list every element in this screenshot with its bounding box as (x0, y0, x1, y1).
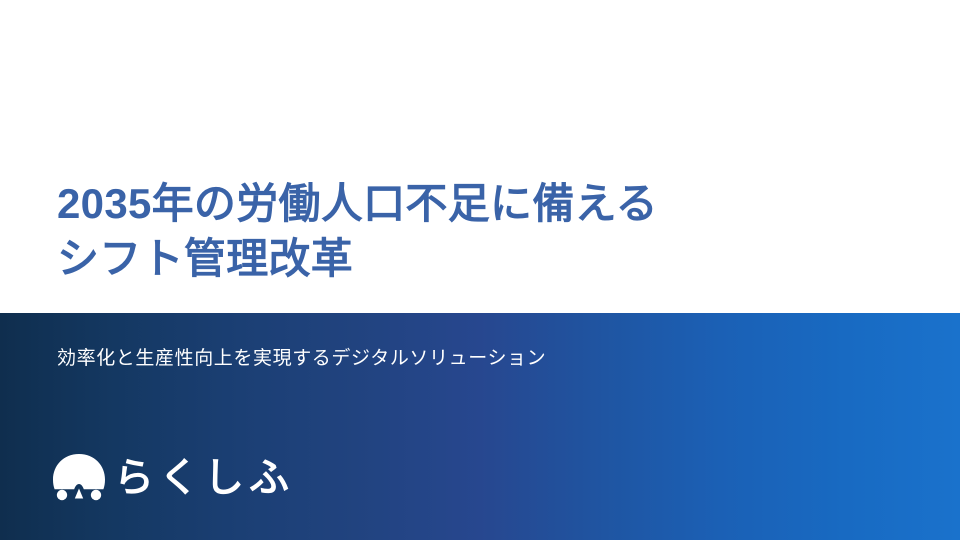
brand-logo: らくしふ (50, 450, 294, 506)
slide-title: 2035年の労働人口不足に備える シフト管理改革 (57, 176, 897, 286)
slide-subtitle: 効率化と生産性向上を実現するデジタルソリューション (57, 345, 546, 373)
brand-logo-wordmark: らくしふ (114, 458, 294, 498)
title-slide: 2035年の労働人口不足に備える シフト管理改革 効率化と生産性向上を実現するデ… (0, 0, 960, 540)
rakushifu-dome-icon (50, 452, 108, 504)
title-line-2: シフト管理改革 (57, 231, 897, 286)
title-line-1: 2035年の労働人口不足に備える (57, 176, 897, 231)
